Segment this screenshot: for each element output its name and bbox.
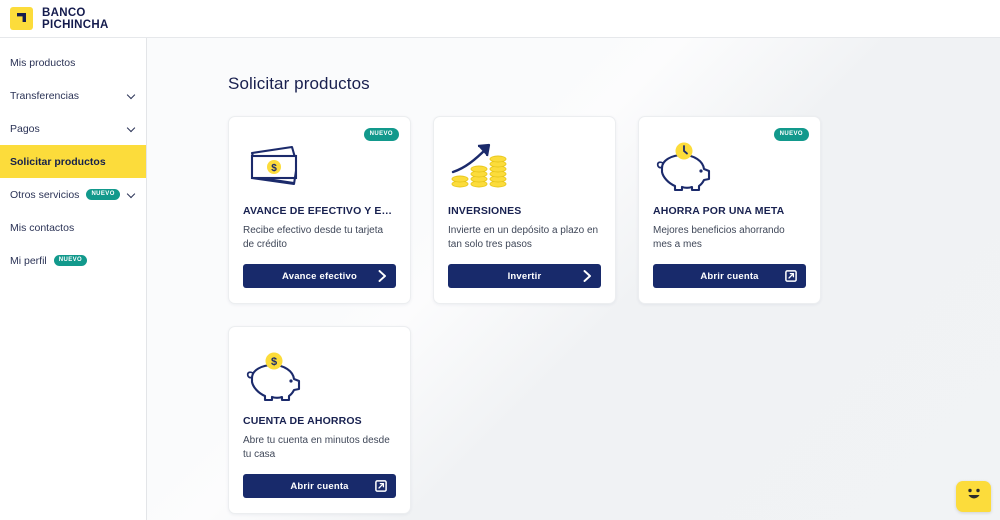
card-title: INVERSIONES bbox=[448, 205, 601, 217]
avance-efectivo-button[interactable]: Avance efectivo bbox=[243, 264, 396, 288]
card-description: Recibe efectivo desde tu tarjeta de créd… bbox=[243, 224, 396, 251]
product-card-cuenta-de-ahorros[interactable]: $ CUENTA DE AHORROS Abre tu cuenta en mi… bbox=[228, 326, 411, 514]
sidebar-item-mis-contactos[interactable]: Mis contactos bbox=[0, 211, 146, 244]
sidebar-item-label: Pagos bbox=[10, 123, 40, 135]
svg-text:$: $ bbox=[271, 356, 277, 368]
chevron-down-icon bbox=[127, 124, 136, 133]
page-title: Solicitar productos bbox=[228, 74, 1000, 94]
sidebar-nav: Mis productos Transferencias Pagos Solic… bbox=[0, 38, 147, 520]
chevron-right-icon bbox=[378, 270, 387, 282]
brand-name: BANCO PICHINCHA bbox=[42, 7, 109, 31]
chevron-right-icon bbox=[583, 270, 592, 282]
product-card-ahorra-por-una-meta[interactable]: NUEVO AHORRA POR UNA META Mejores b bbox=[638, 116, 821, 304]
chevron-down-icon bbox=[127, 91, 136, 100]
sidebar-item-solicitar-productos[interactable]: Solicitar productos bbox=[0, 145, 146, 178]
product-card-avance-efectivo[interactable]: NUEVO $ bbox=[228, 116, 411, 304]
brand-logo[interactable]: BANCO PICHINCHA bbox=[10, 7, 109, 31]
status-badge-nuevo: NUEVO bbox=[54, 255, 87, 267]
brand-name-line1: BANCO bbox=[42, 7, 109, 19]
sidebar-item-label: Transferencias bbox=[10, 90, 79, 102]
external-link-icon bbox=[785, 270, 797, 282]
card-description: Mejores beneficios ahorrando mes a mes bbox=[653, 224, 806, 251]
card-title: CUENTA DE AHORROS bbox=[243, 415, 396, 427]
status-badge-nuevo: NUEVO bbox=[774, 128, 809, 141]
sidebar-item-label: Mis contactos bbox=[10, 222, 74, 234]
invertir-button[interactable]: Invertir bbox=[448, 264, 601, 288]
button-label: Avance efectivo bbox=[282, 271, 357, 282]
sidebar-item-otros-servicios[interactable]: Otros servicios NUEVO bbox=[0, 178, 146, 211]
banknotes-icon: $ bbox=[243, 137, 396, 195]
sidebar-item-transferencias[interactable]: Transferencias bbox=[0, 79, 146, 112]
chat-smiley-icon bbox=[963, 486, 985, 507]
sidebar-item-label: Mis productos bbox=[10, 57, 75, 69]
button-label: Invertir bbox=[508, 271, 542, 282]
abrir-cuenta-meta-button[interactable]: Abrir cuenta bbox=[653, 264, 806, 288]
sidebar-item-label: Otros servicios bbox=[10, 189, 79, 201]
brand-name-line2: PICHINCHA bbox=[42, 19, 109, 31]
sidebar-item-mi-perfil[interactable]: Mi perfil NUEVO bbox=[0, 244, 146, 277]
app-header: BANCO PICHINCHA bbox=[0, 0, 1000, 38]
status-badge-nuevo: NUEVO bbox=[86, 189, 119, 201]
coin-stacks-growth-icon bbox=[448, 137, 601, 195]
external-link-icon bbox=[375, 480, 387, 492]
main-content: Solicitar productos NUEVO bbox=[147, 38, 1000, 520]
card-description: Invierte en un depósito a plazo en tan s… bbox=[448, 224, 601, 251]
product-card-grid: NUEVO $ bbox=[228, 116, 1000, 514]
app-root: BANCO PICHINCHA Mis productos Transferen… bbox=[0, 0, 1000, 520]
product-card-inversiones[interactable]: INVERSIONES Invierte en un depósito a pl… bbox=[433, 116, 616, 304]
chevron-down-icon bbox=[127, 190, 136, 199]
piggy-bank-coin-icon: $ bbox=[243, 347, 396, 405]
sidebar-item-mis-productos[interactable]: Mis productos bbox=[0, 46, 146, 79]
sidebar-item-pagos[interactable]: Pagos bbox=[0, 112, 146, 145]
abrir-cuenta-ahorros-button[interactable]: Abrir cuenta bbox=[243, 474, 396, 498]
piggy-bank-clock-icon bbox=[653, 137, 806, 195]
status-badge-nuevo: NUEVO bbox=[364, 128, 399, 141]
svg-text:$: $ bbox=[271, 163, 277, 174]
card-title: AHORRA POR UNA META bbox=[653, 205, 806, 217]
banco-pichincha-logo-icon bbox=[10, 7, 33, 30]
button-label: Abrir cuenta bbox=[290, 481, 348, 492]
app-body: Mis productos Transferencias Pagos Solic… bbox=[0, 38, 1000, 520]
card-title: AVANCE DE EFECTIVO Y EFECTI... bbox=[243, 205, 396, 217]
button-label: Abrir cuenta bbox=[700, 271, 758, 282]
sidebar-item-label: Solicitar productos bbox=[10, 156, 106, 168]
sidebar-item-label: Mi perfil bbox=[10, 255, 47, 267]
chat-assistant-button[interactable] bbox=[956, 481, 991, 512]
card-description: Abre tu cuenta en minutos desde tu casa bbox=[243, 434, 396, 461]
